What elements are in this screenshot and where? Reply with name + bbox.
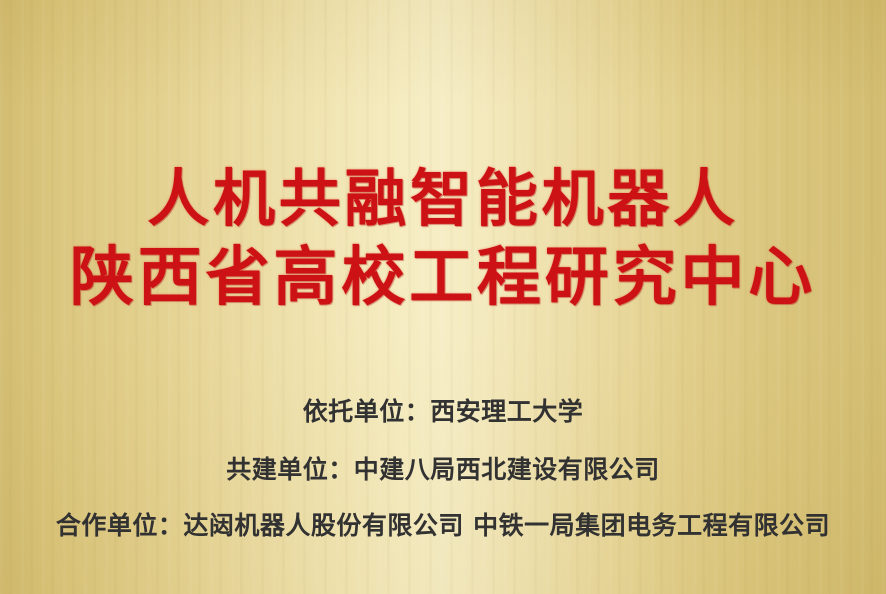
plaque-subtitle: 依托单位：西安理工大学 共建单位：中建八局西北建设有限公司 合作单位：达闼机器人… xyxy=(0,392,886,542)
co-building-institution-line: 共建单位：中建八局西北建设有限公司 xyxy=(0,450,886,486)
plaque-board: 人机共融智能机器人 陕西省高校工程研究中心 依托单位：西安理工大学 共建单位：中… xyxy=(0,0,886,594)
cooperating-institution-line: 合作单位：达闼机器人股份有限公司 中铁一局集团电务工程有限公司 xyxy=(0,506,886,542)
title-line-1: 人机共融智能机器人 xyxy=(0,168,886,246)
supporting-institution-line: 依托单位：西安理工大学 xyxy=(0,392,886,428)
plaque-title: 人机共融智能机器人 陕西省高校工程研究中心 xyxy=(0,168,886,324)
title-line-2: 陕西省高校工程研究中心 xyxy=(0,246,886,324)
plaque-content: 人机共融智能机器人 陕西省高校工程研究中心 依托单位：西安理工大学 共建单位：中… xyxy=(0,0,886,594)
